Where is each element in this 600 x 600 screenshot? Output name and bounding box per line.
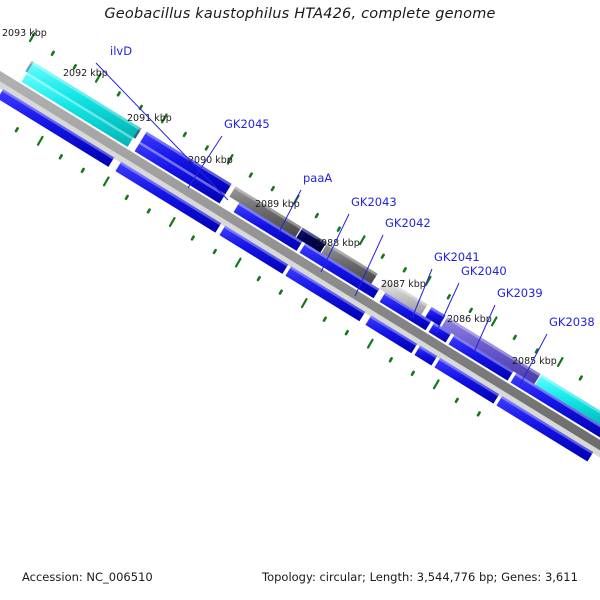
tick-mark (346, 331, 348, 334)
tick-mark (478, 413, 480, 416)
tick-mark (382, 255, 384, 258)
forward-strand-track[interactable] (22, 61, 600, 439)
tick-mark (360, 236, 365, 244)
tick-mark (60, 155, 62, 158)
tick-mark (170, 218, 175, 226)
tick-mark (448, 295, 450, 298)
tick-mark (148, 210, 150, 213)
tick-mark (126, 196, 128, 199)
axis-tick-label: 2087 kbp (381, 279, 426, 290)
tick-mark (492, 318, 497, 326)
axis-tick-labels: 2093 kbp2092 kbp2091 kbp2090 kbp2089 kbp… (2, 28, 557, 367)
tick-mark (272, 187, 274, 190)
gene-label[interactable]: GK2039 (497, 286, 543, 300)
tick-mark (338, 228, 340, 231)
tick-mark (580, 377, 582, 380)
tick-mark (368, 340, 373, 348)
gene-label[interactable]: paaA (303, 171, 332, 185)
tick-mark (250, 174, 252, 177)
tick-mark (16, 128, 18, 131)
axis-tick-label: 2093 kbp (2, 28, 47, 39)
accession-text: Accession: NC_006510 (22, 570, 153, 584)
genome-map-viewer: Geobacillus kaustophilus HTA426, complet… (0, 0, 600, 600)
topology-text: Topology: circular; Length: 3,544,776 bp… (262, 570, 578, 584)
tick-mark (192, 237, 194, 240)
tick-mark (302, 299, 307, 307)
tick-mark (316, 214, 318, 217)
tick-mark (280, 291, 282, 294)
tick-mark (558, 358, 563, 366)
tick-mark (206, 147, 208, 150)
axis-tick-label: 2086 kbp (447, 314, 492, 325)
tick-mark (104, 178, 109, 186)
tick-mark (184, 133, 186, 136)
tick-mark (324, 318, 326, 321)
tick-mark (390, 358, 392, 361)
tick-mark (258, 277, 260, 280)
gene-label[interactable]: GK2043 (351, 195, 397, 209)
gene-label[interactable]: GK2040 (461, 264, 507, 278)
gene-label[interactable]: ilvD (110, 44, 132, 58)
tick-mark (412, 372, 414, 375)
gene-label[interactable]: GK2042 (385, 216, 431, 230)
axis-tick-label: 2092 kbp (63, 68, 108, 79)
tick-mark (118, 93, 120, 96)
status-bar: Accession: NC_006510 Topology: circular;… (0, 570, 600, 592)
tick-mark (456, 399, 458, 402)
gene-label[interactable]: GK2038 (549, 315, 595, 329)
gene-label[interactable]: GK2041 (434, 250, 480, 264)
gene-label[interactable]: GK2045 (224, 117, 270, 131)
tick-mark (434, 380, 439, 388)
genome-diagram[interactable]: 2093 kbp2092 kbp2091 kbp2090 kbp2089 kbp… (0, 0, 600, 600)
tick-mark (38, 137, 43, 145)
tick-mark (404, 268, 406, 271)
tick-mark (214, 250, 216, 253)
tick-mark (82, 169, 84, 172)
tick-mark (470, 309, 472, 312)
axis-tick-label: 2088 kbp (315, 238, 360, 249)
tick-mark (514, 336, 516, 339)
axis-tick-label: 2090 kbp (188, 155, 233, 166)
tick-mark (236, 259, 241, 267)
tick-mark (52, 52, 54, 55)
